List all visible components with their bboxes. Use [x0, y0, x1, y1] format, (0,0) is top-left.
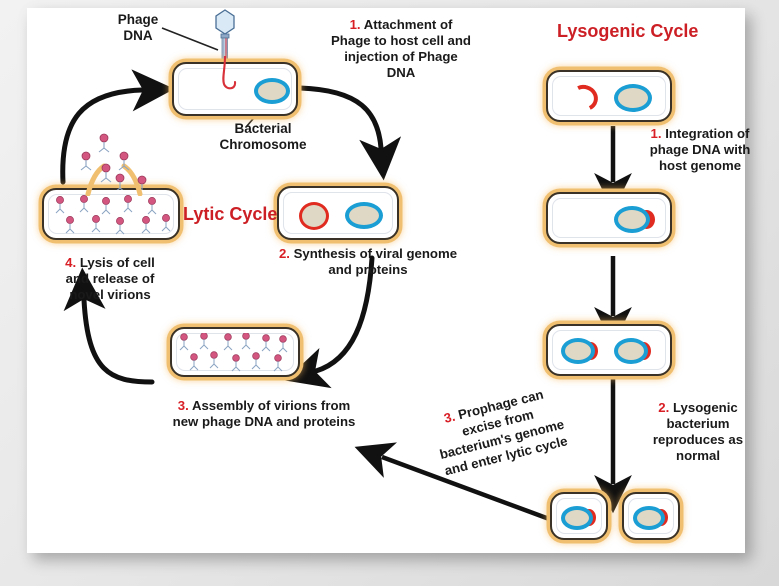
step-number-lytic-1: 1.: [350, 17, 361, 32]
caption-lytic-step-2-text1: Synthesis of viral genome: [294, 246, 457, 261]
bacterial-chromosome-synthesis: [345, 202, 383, 229]
cell-lysogenic-start: [546, 70, 672, 122]
caption-lytic-step-4: 4. Lysis of cell and release of novel vi…: [30, 255, 190, 303]
assembled-virions-group: [178, 333, 296, 375]
bacterial-chromosome-lyso-start: [614, 84, 652, 112]
prophage-chromosome-group-right: [614, 338, 658, 366]
diagram-canvas: Phage DNA Bacterial Chromosome: [0, 0, 779, 586]
cell-synthesis: [277, 186, 399, 240]
bacterial-chromosome-dividing-left: [561, 338, 595, 364]
label-phage-dna-line1: Phage: [98, 12, 178, 28]
prophage-chromosome-daughter-left: [561, 506, 605, 532]
lysing-virions-group: [50, 194, 176, 238]
prophage-chromosome-daughter-right: [633, 506, 677, 532]
caption-lytic-step-3-text1: Assembly of virions from: [192, 398, 350, 413]
bacterial-chromosome-daughter-left: [561, 506, 593, 530]
label-phage-dna-line2: DNA: [98, 28, 178, 44]
step-number-lyso-1: 1.: [651, 126, 662, 141]
caption-lysogenic-step-1-line2: phage DNA with: [630, 142, 770, 158]
caption-lysogenic-step-2-line4: normal: [625, 448, 771, 464]
caption-lysogenic-step-1-line3: host genome: [630, 158, 770, 174]
caption-lytic-step-4-text1: Lysis of cell: [80, 255, 155, 270]
bacterial-chromosome-lyso-integrated: [614, 206, 650, 233]
caption-lytic-step-1-line2: Phage to host cell and: [310, 33, 492, 49]
cell-daughter-left: [550, 492, 608, 540]
phage-genome-ring: [299, 202, 329, 230]
caption-lytic-step-1-line1: 1. Attachment of: [310, 17, 492, 33]
caption-lytic-step-2-line1: 2. Synthesis of viral genome: [258, 246, 478, 262]
step-number-lytic-3: 3.: [178, 398, 189, 413]
step-number-lytic-4: 4.: [65, 255, 76, 270]
bacterial-chromosome-host: [254, 78, 290, 104]
label-bacterial-chromosome-line1: Bacterial: [188, 121, 338, 137]
prophage-chromosome-group: [614, 206, 658, 234]
step-number-lytic-2: 2.: [279, 246, 290, 261]
caption-lysogenic-step-1-line1: 1. Integration of: [630, 126, 770, 142]
caption-lytic-step-1-line3: injection of Phage: [310, 49, 492, 65]
caption-lytic-step-1-text1: Attachment of: [364, 17, 453, 32]
step-number-lyso-2: 2.: [658, 400, 669, 415]
caption-lysogenic-step-1: 1. Integration of phage DNA with host ge…: [630, 126, 770, 174]
released-virions-group: [70, 130, 180, 190]
label-bacterial-chromosome: Bacterial Chromosome: [188, 121, 338, 154]
title-lysogenic-cycle: Lysogenic Cycle: [557, 21, 698, 42]
caption-lysogenic-step-2-line2: bacterium: [625, 416, 771, 432]
caption-lytic-step-4-line1: 4. Lysis of cell: [30, 255, 190, 271]
bacterial-chromosome-dividing-right: [614, 338, 648, 364]
caption-lytic-step-3-line1: 3. Assembly of virions from: [140, 398, 388, 414]
cell-infected-host: [172, 62, 298, 116]
bacterial-chromosome-daughter-right: [633, 506, 665, 530]
caption-lysogenic-step-2: 2. Lysogenic bacterium reproduces as nor…: [625, 400, 771, 464]
label-phage-dna: Phage DNA: [98, 12, 178, 45]
caption-lytic-step-2: 2. Synthesis of viral genome and protein…: [258, 246, 478, 278]
cell-assembly: [170, 327, 300, 377]
caption-lytic-step-1: 1. Attachment of Phage to host cell and …: [310, 17, 492, 81]
injected-phage-dna: [204, 56, 254, 104]
prophage-chromosome-group-left: [561, 338, 605, 366]
caption-lysogenic-step-2-text1: Lysogenic: [673, 400, 738, 415]
cell-lysogenic-integrated: [546, 192, 672, 244]
caption-lysogenic-step-2-line3: reproduces as: [625, 432, 771, 448]
caption-lytic-step-1-line4: DNA: [310, 65, 492, 81]
caption-lytic-step-2-line2: and proteins: [258, 262, 478, 278]
cell-daughter-right: [622, 492, 680, 540]
cell-lysogenic-dividing: [546, 324, 672, 376]
title-lytic-cycle: Lytic Cycle: [183, 204, 277, 225]
step-number-lyso-3: 3.: [442, 409, 456, 426]
caption-lytic-step-3: 3. Assembly of virions from new phage DN…: [140, 398, 388, 430]
label-bacterial-chromosome-line2: Chromosome: [188, 137, 338, 153]
caption-lysogenic-step-2-line1: 2. Lysogenic: [625, 400, 771, 416]
caption-lytic-step-3-line2: new phage DNA and proteins: [140, 414, 388, 430]
caption-lytic-step-4-line2: and release of: [30, 271, 190, 287]
caption-lytic-step-4-line3: novel virions: [30, 287, 190, 303]
caption-lysogenic-step-1-text1: Integration of: [665, 126, 749, 141]
